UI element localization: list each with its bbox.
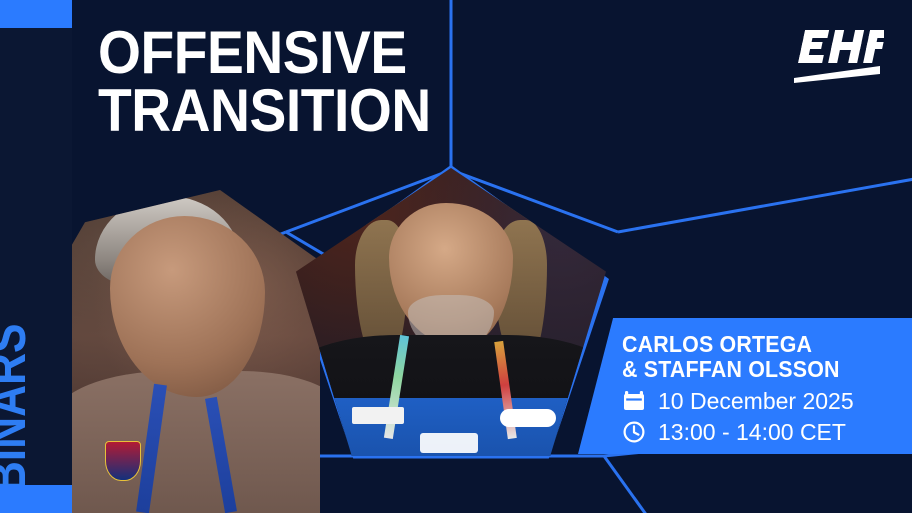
info-panel: CARLOS ORTEGA & STAFFAN OLSSON 10 Decemb… bbox=[578, 318, 912, 454]
sidebar-series-label: WEBINARS bbox=[0, 323, 36, 485]
ehf-logo-swoosh bbox=[794, 66, 880, 83]
sponsor-patch-right bbox=[500, 409, 556, 427]
sidebar-brand-strip: EHF WEBINARS bbox=[0, 0, 72, 513]
photo-carlos-ortega bbox=[70, 190, 320, 513]
date-row: 10 December 2025 bbox=[622, 389, 904, 413]
webinar-poster: EHF WEBINARS OFFENSIVE TRANSITION bbox=[0, 0, 912, 513]
ehf-logo bbox=[788, 26, 884, 84]
speaker-name-1: CARLOS ORTEGA bbox=[622, 332, 884, 357]
sidebar-text-wrap: EHF WEBINARS bbox=[0, 28, 72, 485]
info-panel-content: CARLOS ORTEGA & STAFFAN OLSSON 10 Decemb… bbox=[622, 332, 904, 444]
speaker-name-2: & STAFFAN OLSSON bbox=[622, 357, 884, 382]
sidebar-vertical-text: EHF WEBINARS bbox=[0, 270, 36, 485]
webinar-date: 10 December 2025 bbox=[658, 389, 854, 413]
sidebar-cap-bottom bbox=[0, 485, 72, 513]
sponsor-patch-left bbox=[352, 407, 404, 424]
calendar-icon bbox=[622, 389, 646, 413]
sidebar-cap-top bbox=[0, 0, 72, 28]
webinar-time: 13:00 - 14:00 CET bbox=[658, 420, 846, 444]
club-crest-icon bbox=[105, 441, 141, 481]
title-line-1: OFFENSIVE bbox=[98, 24, 431, 82]
clock-icon bbox=[622, 420, 646, 444]
page-title: OFFENSIVE TRANSITION bbox=[98, 24, 460, 140]
time-row: 13:00 - 14:00 CET bbox=[622, 420, 904, 444]
sponsor-patch-center bbox=[420, 433, 478, 453]
title-line-2: TRANSITION bbox=[98, 82, 431, 140]
